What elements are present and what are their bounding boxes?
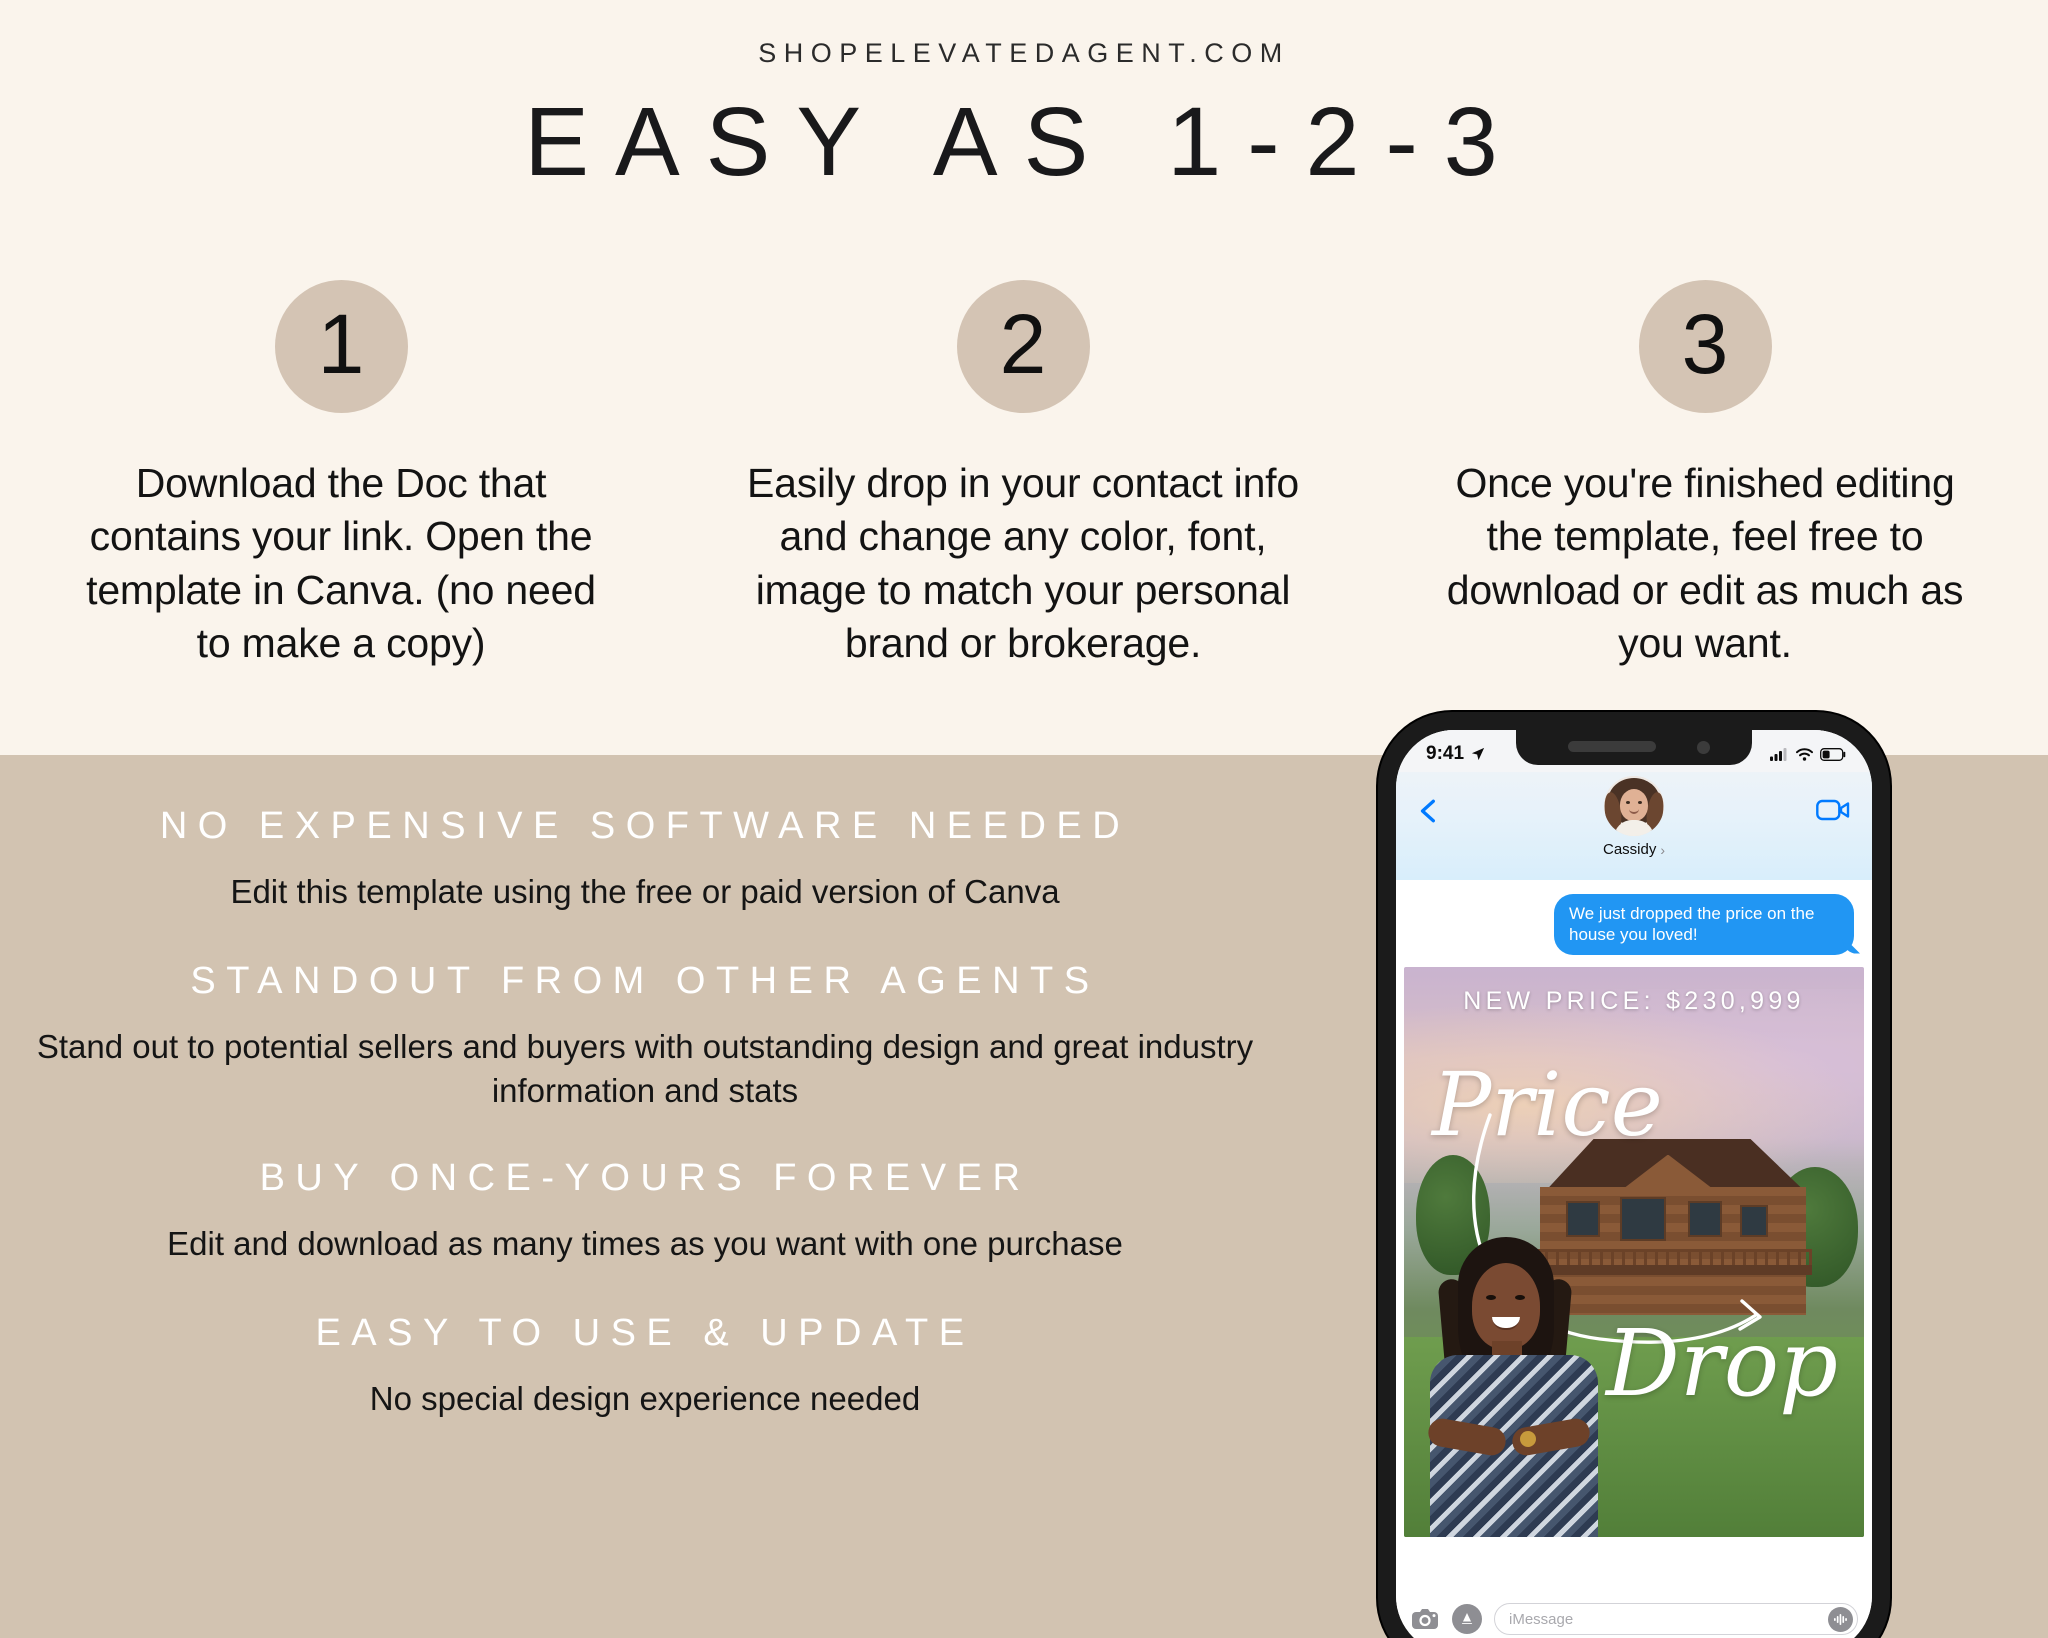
feature-body: Edit this template using the free or pai…	[0, 870, 1290, 914]
step-description-3: Once you're finished editing the templat…	[1425, 457, 1985, 670]
feature-item: STANDOUT FROM OTHER AGENTS Stand out to …	[0, 960, 1290, 1113]
step-number-badge-1: 1	[275, 280, 408, 413]
feature-item: EASY TO USE & UPDATE No special design e…	[0, 1312, 1290, 1421]
phone-notch	[1516, 730, 1752, 765]
avatar[interactable]	[1604, 776, 1664, 836]
site-url: SHOPELEVATEDAGENT.COM	[0, 38, 2048, 69]
feature-item: NO EXPENSIVE SOFTWARE NEEDED Edit this t…	[0, 805, 1290, 914]
status-time: 9:41	[1426, 743, 1464, 765]
feature-heading: EASY TO USE & UPDATE	[0, 1312, 1290, 1355]
step-number-badge-2: 2	[957, 280, 1090, 413]
location-arrow-icon	[1471, 747, 1485, 761]
top-section: SHOPELEVATEDAGENT.COM EASY AS 1-2-3 1 Do…	[0, 0, 2048, 755]
speaker-grille	[1568, 741, 1656, 752]
steps-row: 1 Download the Doc that contains your li…	[0, 280, 2048, 670]
front-camera-icon	[1697, 741, 1710, 754]
status-bar-right	[1770, 748, 1846, 761]
app-store-icon[interactable]	[1452, 1604, 1482, 1634]
step-description-2: Easily drop in your contact info and cha…	[743, 457, 1303, 670]
message-bubble-outgoing: We just dropped the price on the house y…	[1554, 894, 1854, 955]
cellular-signal-icon	[1770, 748, 1789, 761]
message-bubble-row: We just dropped the price on the house y…	[1396, 880, 1872, 955]
agent-photo	[1416, 1237, 1646, 1537]
feature-body: No special design experience needed	[0, 1377, 1290, 1421]
back-chevron-icon[interactable]	[1416, 798, 1442, 824]
step-2: 2 Easily drop in your contact info and c…	[682, 280, 1364, 670]
step-3: 3 Once you're finished editing the templ…	[1364, 280, 2046, 670]
step-description-1: Download the Doc that contains your link…	[81, 457, 601, 670]
feature-heading: BUY ONCE-YOURS FOREVER	[0, 1157, 1290, 1200]
poster-root: SHOPELEVATEDAGENT.COM EASY AS 1-2-3 1 Do…	[0, 0, 2048, 1638]
imessage-placeholder: iMessage	[1509, 1611, 1573, 1628]
feature-body: Edit and download as many times as you w…	[0, 1222, 1290, 1266]
status-bar-left: 9:41	[1426, 743, 1485, 765]
contact-name-row[interactable]: Cassidy ›	[1603, 841, 1665, 858]
listing-image-attachment[interactable]: NEW PRICE: $230,999 Price Drop	[1404, 967, 1864, 1537]
battery-icon	[1820, 748, 1846, 761]
video-camera-icon[interactable]	[1816, 798, 1850, 822]
wifi-icon	[1796, 748, 1813, 761]
feature-body: Stand out to potential sellers and buyer…	[0, 1025, 1290, 1113]
contact-name-label: Cassidy	[1603, 841, 1656, 858]
phone-screen: Cassidy › 9:41	[1396, 730, 1872, 1638]
feature-heading: STANDOUT FROM OTHER AGENTS	[0, 960, 1290, 1003]
new-price-label: NEW PRICE: $230,999	[1404, 987, 1864, 1016]
audio-waveform-icon[interactable]	[1828, 1607, 1853, 1632]
camera-icon[interactable]	[1410, 1604, 1440, 1634]
chevron-right-icon: ›	[1660, 842, 1665, 858]
features-list: NO EXPENSIVE SOFTWARE NEEDED Edit this t…	[0, 805, 1290, 1428]
step-1: 1 Download the Doc that contains your li…	[0, 280, 682, 670]
imessage-input[interactable]: iMessage	[1494, 1603, 1858, 1635]
contact-header[interactable]: Cassidy ›	[1603, 776, 1665, 858]
page-title: EASY AS 1-2-3	[0, 91, 2048, 193]
imessage-input-bar: iMessage	[1396, 1590, 1872, 1638]
script-word-price: Price	[1432, 1053, 1663, 1156]
message-list: We just dropped the price on the house y…	[1396, 880, 1872, 1590]
feature-item: BUY ONCE-YOURS FOREVER Edit and download…	[0, 1157, 1290, 1266]
feature-heading: NO EXPENSIVE SOFTWARE NEEDED	[0, 805, 1290, 848]
phone-mockup: Cassidy › 9:41	[1378, 712, 1890, 1638]
step-number-badge-3: 3	[1639, 280, 1772, 413]
